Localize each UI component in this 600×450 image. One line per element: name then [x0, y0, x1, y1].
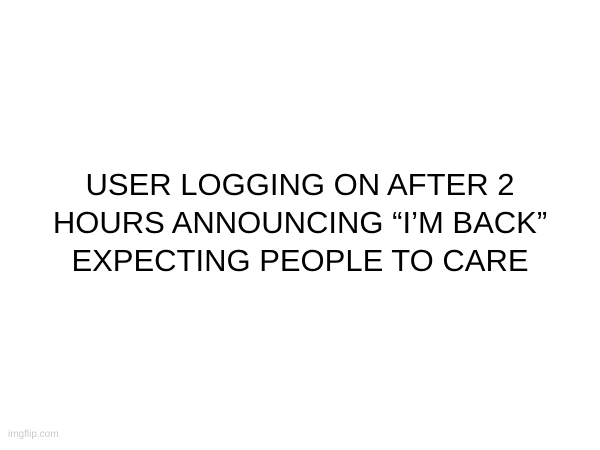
imgflip-watermark: imgflip.com [8, 429, 59, 441]
caption-line-3: EXPECTING PEOPLE TO CARE [2, 242, 598, 280]
caption-text-block: USER LOGGING ON AFTER 2 HOURS ANNOUNCING… [0, 166, 600, 280]
caption-line-2: HOURS ANNOUNCING “I’M BACK” [2, 204, 598, 242]
meme-image: USER LOGGING ON AFTER 2 HOURS ANNOUNCING… [0, 0, 600, 450]
caption-line-1: USER LOGGING ON AFTER 2 [2, 166, 598, 204]
